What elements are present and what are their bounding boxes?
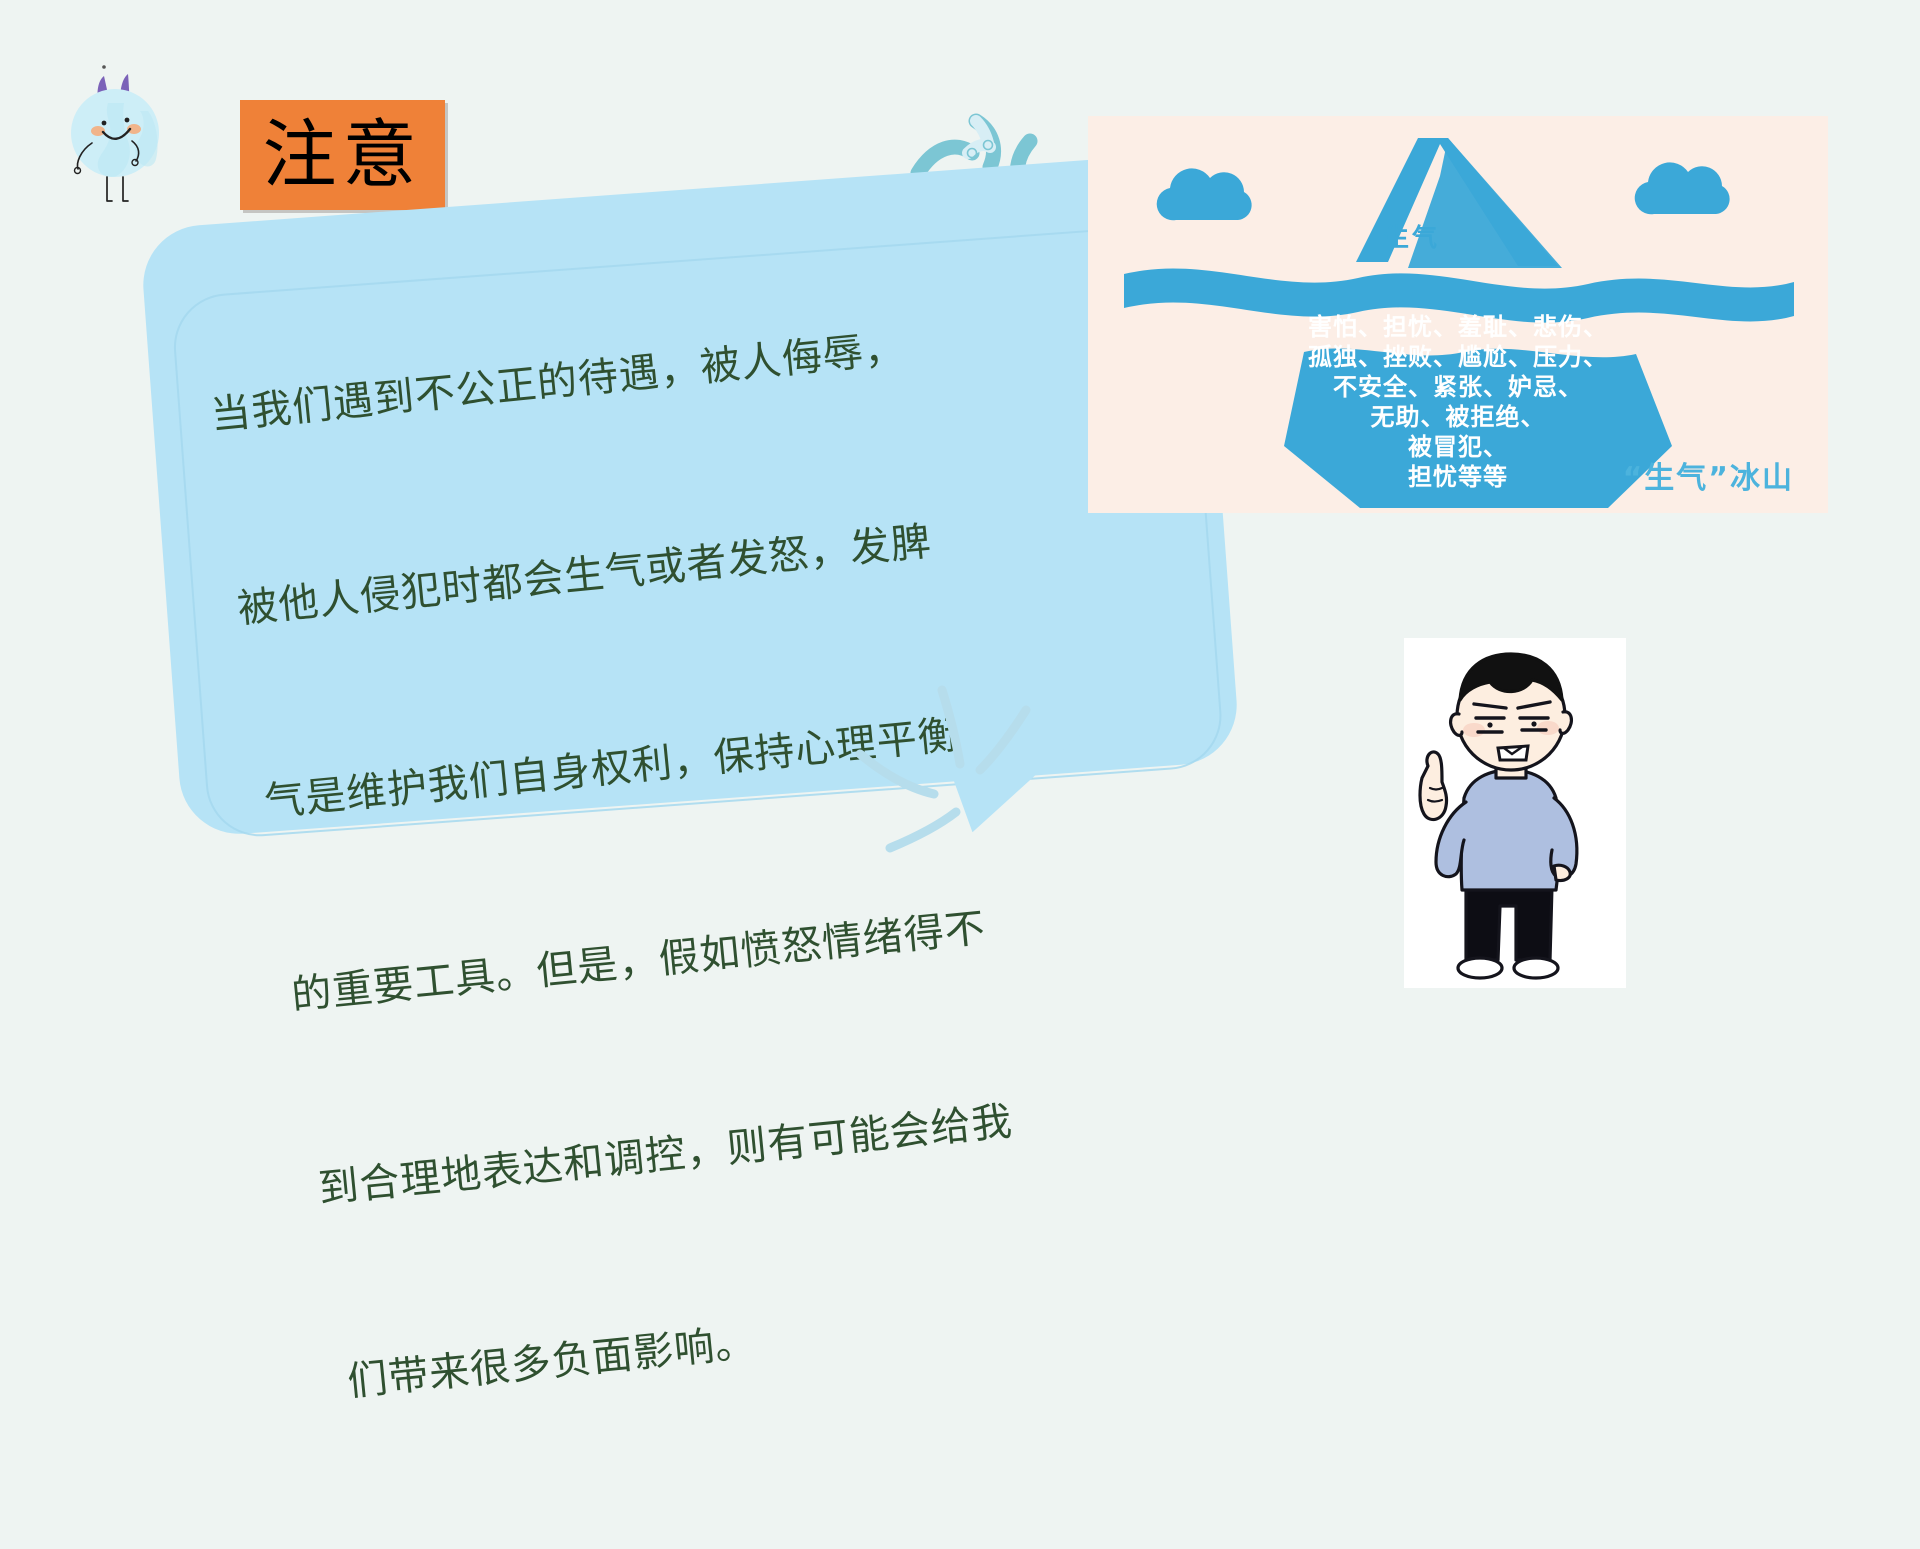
pointing-man-icon	[1404, 638, 1626, 988]
bubble-text-line: 到合理地表达和调控，则有可能会给我	[316, 1086, 1047, 1222]
underwater-line: 不安全、紧张、妒忌、	[1088, 372, 1828, 402]
cloud-icon	[1635, 162, 1730, 214]
bubble-text-line: 的重要工具。但是，假如愤怒情绪得不	[289, 892, 1028, 1029]
bubble-text-line: 气是维护我们自身权利，保持心理平衡	[262, 698, 1009, 835]
pointing-man-card	[1404, 638, 1626, 988]
mascot-illustration	[60, 55, 230, 230]
mascot-blob-icon	[60, 55, 230, 230]
bubble-text-line: 被他人侵犯时都会生气或者发怒，发脾	[235, 504, 990, 642]
iceberg-tip-label: 生气	[1384, 218, 1440, 254]
notice-badge-label: 注意	[263, 118, 423, 192]
underwater-line: 无助、被拒绝、	[1088, 402, 1828, 432]
slide-canvas: 注意	[0, 0, 1920, 1080]
underwater-line: 害怕、担忧、羞耻、悲伤、	[1088, 312, 1828, 342]
iceberg-infographic-panel: 生气 害怕、担忧、羞耻、悲伤、 孤独、挫败、尴尬、压力、 不安全、紧张、妒忌、 …	[1088, 116, 1828, 513]
bubble-text-line: 当我们遇到不公正的待遇，被人侮辱，	[208, 310, 971, 449]
cloud-icon	[1157, 168, 1252, 220]
iceberg-caption: “生气”冰山	[1623, 453, 1794, 497]
notice-badge: 注意	[240, 100, 445, 210]
underwater-line: 孤独、挫败、尴尬、压力、	[1088, 342, 1828, 372]
speech-bubble-text: 当我们遇到不公正的待遇，被人侮辱， 被他人侵犯时都会生气或者发怒，发脾 气是维护…	[195, 181, 1078, 1549]
bubble-text-line: 们带来很多负面影响。	[345, 1281, 1066, 1416]
